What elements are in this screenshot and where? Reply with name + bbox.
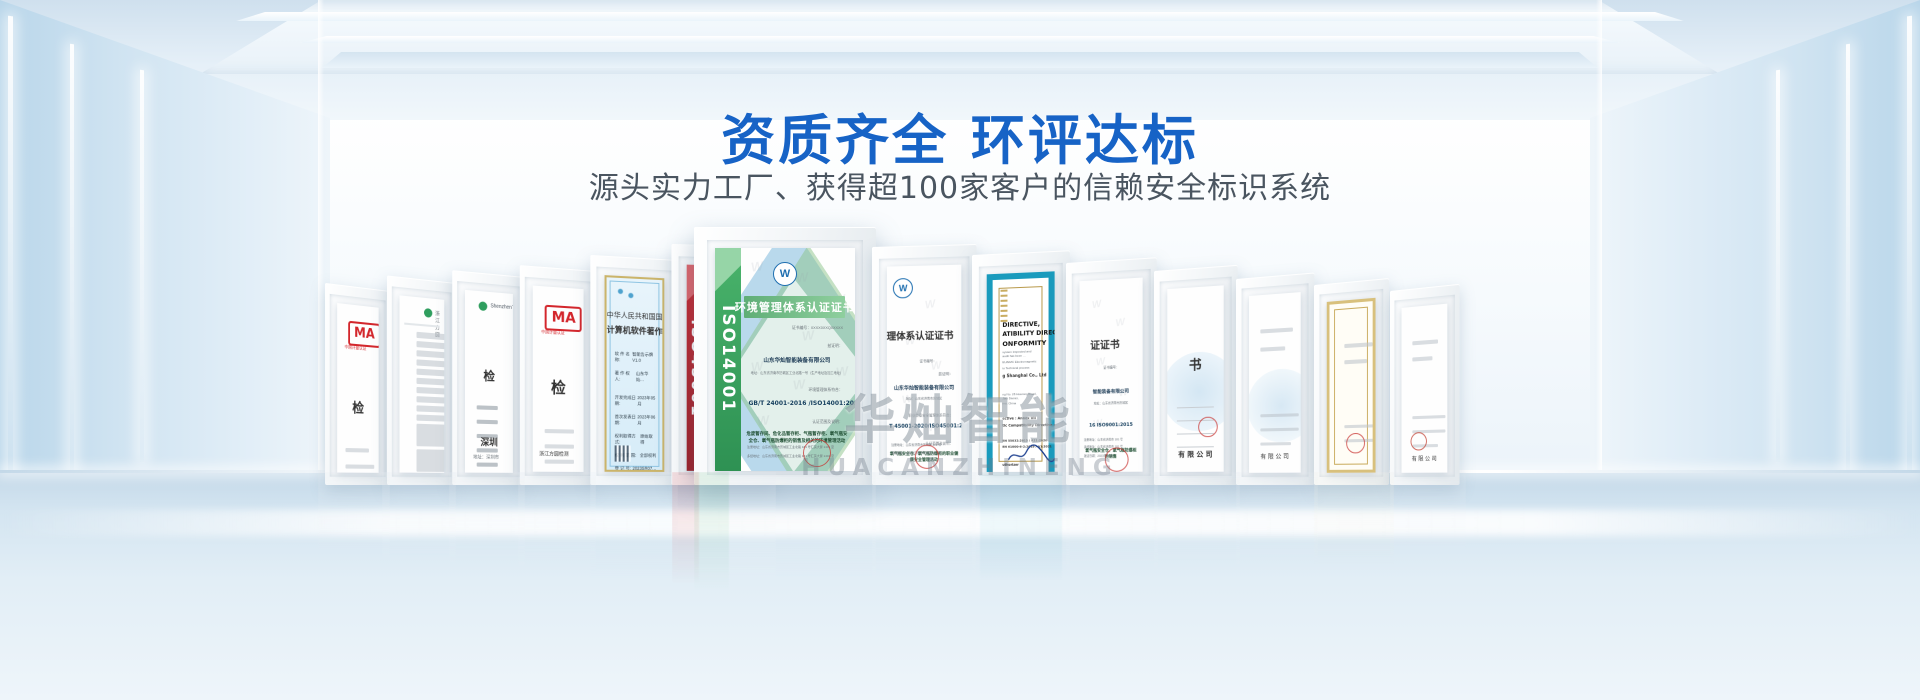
frame-inner: 有 限 公 司: [1241, 284, 1308, 477]
ma-mark-caption: 中国计量认证: [541, 329, 565, 336]
standard-value: 16 ISO9001:2015: [1082, 423, 1140, 429]
certificate-reflection: [1236, 472, 1318, 570]
standard-1: EN 55032:2015 / A11:2020: [1002, 438, 1047, 442]
ornament-corner: [613, 284, 639, 304]
field-block: [345, 464, 374, 468]
title-plate: 环境管理体系认证证书: [744, 296, 845, 318]
cnas-logo-icon: W: [773, 262, 797, 286]
certificate-title: 检: [533, 375, 583, 398]
certificate-reflection: [1066, 472, 1158, 578]
certificate-frame[interactable]: ShenzhenTEST 检 深圳 地址：深圳市: [452, 270, 525, 485]
certificate-frame[interactable]: 有 限 公 司: [1236, 272, 1314, 485]
directive-title-line1: DIRECTIVE,: [1002, 320, 1040, 328]
official-seal-icon: [803, 439, 831, 467]
company-name: 山东华灿智能装备有限公司: [891, 384, 957, 392]
certificate-sheet: 中华人民共和国国家版权局 计算机软件著作权登记证书 软 件 名 称:智能告示牌V…: [605, 275, 664, 472]
certificate-sheet: MA 中国计量认证 检: [337, 303, 378, 473]
certificate-reflection: [972, 472, 1070, 582]
company-name: 有 限 公 司: [1402, 454, 1447, 463]
certificate-sheet: 有 限 公 司: [1402, 303, 1447, 473]
ceiling-slot: [322, 52, 1598, 68]
ceiling-light-strip-1: [236, 12, 1684, 21]
standard-value: GB/T 24001-2016 /ISO14001:2015: [748, 400, 845, 407]
company-label: 兹证明：: [827, 344, 842, 349]
frame-inner: MA 中国计量认证 检: [330, 294, 386, 478]
issuer-address: 地址：深圳市: [473, 454, 499, 460]
certificate-number: 证书编号：0XXX0XXQ0XXXX: [792, 326, 843, 331]
directive-title-line2: ATIBILITY DIRECTIVE: [1002, 328, 1054, 337]
frame-inner: WW WW WW W 理体系认证证书 证书编号： 兹证明： 山东华灿智能装备有限…: [879, 256, 969, 475]
qr-code-icon: [615, 445, 631, 461]
certificate-frame[interactable]: [1314, 278, 1389, 485]
certificate-sheet: WW WW WW W 理体系认证证书 证书编号： 兹证明： 山东华灿智能装备有限…: [887, 265, 961, 472]
official-seal-icon: [1411, 432, 1427, 451]
field-block: [345, 448, 368, 453]
annex-1: ective : Annex VII: [1002, 416, 1036, 421]
signature-icon: [1006, 443, 1054, 464]
certificate-number: 证书编号：: [1103, 364, 1119, 370]
certificate-title: 理体系认证证书: [887, 327, 957, 342]
qualification-banner: 资质齐全 环评达标 源头实力工厂、获得超100家客户的信赖安全标识系统 MA 中…: [0, 0, 1920, 700]
certificate-sheet: WW WW W 证证书 证书编号： 智能装备有限公司 地址：山东省济南市历城区 …: [1080, 278, 1142, 472]
frame-inner: DIRECTIVE, ATIBILITY DIRECTIVE ONFORMITY…: [979, 262, 1063, 476]
certificate-sheet: MA 中国计量认证 检 浙江方圆检测: [533, 285, 583, 472]
ma-mark-caption: 中国计量认证: [345, 344, 367, 352]
standard-label: 职业健康安全管理体系符合：: [909, 412, 953, 417]
company-name: 有 限 公 司: [1169, 450, 1221, 461]
certificate-frame[interactable]: 浙江方圆: [387, 275, 456, 485]
company-name: 山东华灿智能装备有限公司: [748, 356, 845, 364]
field-table: [417, 332, 444, 473]
directive-body: EU/EMC Electromagnetic: [1002, 359, 1036, 364]
certificate-sheet: 书 有 限 公 司: [1167, 285, 1223, 472]
standard-value: T 45001-2020/ISO45001:2018: [889, 423, 959, 430]
certificate-reflection: [872, 472, 976, 586]
certificate-reflection: [318, 472, 390, 564]
certificate-frame[interactable]: WW WW W 证证书 证书编号： 智能装备有限公司 地址：山东省济南市历城区 …: [1066, 257, 1157, 485]
certificate-title: 书: [1167, 353, 1223, 375]
certificate-reflection: [382, 472, 456, 568]
frame-inner: 浙江方圆: [392, 286, 451, 476]
certificate-reflection: [449, 472, 525, 572]
certificate-rack: MA 中国计量认证 检 浙江方圆: [0, 225, 1920, 485]
certificate-frame[interactable]: DIRECTIVE, ATIBILITY DIRECTIVE ONFORMITY…: [972, 250, 1070, 485]
company-name: g Shanghai Co., Ltd: [1002, 372, 1046, 378]
company-address: 地址：山东省济南市历城区: [891, 396, 957, 401]
certificate-title: 检: [465, 366, 512, 386]
institute-name-en: ShenzhenTEST: [490, 304, 512, 313]
company-label: 兹证明：: [938, 372, 953, 377]
certificate-reflection: [1390, 472, 1466, 562]
frame-inner: WW WW W 证证书 证书编号： 智能装备有限公司 地址：山东省济南市历城区 …: [1072, 269, 1150, 476]
certificate-sheet: ISO14001 WW WW WW WW WW W 环境管理体系认证证书 证书编…: [715, 248, 856, 471]
gold-ornament: [1000, 289, 1007, 323]
company-name: 有 限 公 司: [1249, 451, 1301, 461]
company-address: 地址：山东省济南市历城区工业北路一号（生产地址及加工地址）: [748, 370, 845, 375]
certificate-sheet: DIRECTIVE, ATIBILITY DIRECTIVE ONFORMITY…: [987, 271, 1055, 472]
frame-inner: ShenzhenTEST 检 深圳 地址：深圳市: [457, 281, 520, 476]
certificate-sheet: 浙江方圆: [400, 295, 444, 472]
directive-title-line3: ONFORMITY: [1002, 338, 1046, 347]
official-seal-icon: [1198, 417, 1218, 438]
certificate-title: 证证书: [1080, 335, 1136, 353]
issuer-name: 浙江方圆检测: [539, 451, 568, 458]
institute-logo-icon: [479, 302, 488, 312]
certificate-frame[interactable]: 书 有 限 公 司: [1154, 265, 1238, 485]
ceiling-light-strip-2: [300, 36, 1620, 43]
directive-body: system inspected and audit has been …: [1002, 349, 1036, 359]
certificate-frame[interactable]: 中华人民共和国国家版权局 计算机软件著作权登记证书 软 件 名 称:智能告示牌V…: [590, 255, 678, 485]
scope-label: 认证范围及说明：: [812, 420, 842, 425]
copyright-title-line2: 计算机软件著作权登记证书: [607, 324, 662, 337]
company-address: ng No. 28 Huarong Road, Jiao District,re…: [1002, 391, 1036, 405]
certificate-title: 环境管理体系认证证书: [735, 299, 855, 315]
certificate-reflection: [590, 472, 678, 580]
frame-inner: 中华人民共和国国家版权局 计算机软件著作权登记证书 软 件 名 称:智能告示牌V…: [597, 267, 672, 476]
certificate-number: 证书编号：: [919, 358, 936, 363]
institute-logo-icon: [424, 308, 432, 318]
frame-inner: ISO14001 WW WW WW WW WW W 环境管理体系认证证书 证书编…: [707, 240, 864, 475]
ma-mark-icon: MA: [545, 304, 582, 331]
certificate-reflection: [1154, 472, 1240, 574]
frame-inner: MA 中国计量认证 检 浙江方圆检测: [525, 276, 591, 476]
annex-2: tic Compatibility Directive : Annex II: [1002, 422, 1054, 427]
inner-sheet: DIRECTIVE, ATIBILITY DIRECTIVE ONFORMITY…: [992, 277, 1048, 472]
standard-label: 环境管理体系符合：: [808, 388, 842, 393]
certificate-watermark: WW WW W: [1080, 278, 1142, 472]
directive-body: to Technical process: [1002, 365, 1029, 370]
issuer-name: 深圳: [465, 434, 512, 448]
frame-inner: [1319, 289, 1384, 477]
certificate-frame[interactable]: WW WW WW W 理体系认证证书 证书编号： 兹证明： 山东华灿智能装备有限…: [872, 244, 977, 485]
frame-inner: 书 有 限 公 司: [1160, 276, 1232, 476]
certificate-reflection: [1314, 472, 1394, 566]
certificate-reflection: [694, 472, 876, 592]
page-subtitle: 源头实力工厂、获得超100家客户的信赖安全标识系统: [0, 163, 1920, 207]
certificate-frame[interactable]: ISO14001 WW WW WW WW WW W 环境管理体系认证证书 证书编…: [694, 227, 876, 485]
decorative-arc: [1249, 368, 1301, 444]
certificate-frame[interactable]: 有 限 公 司: [1390, 284, 1460, 485]
certificate-sheet: [1326, 298, 1376, 473]
frame-inner: 有 限 公 司: [1395, 294, 1455, 477]
certificate-reflection: [518, 472, 596, 576]
certificate-frame[interactable]: MA 中国计量认证 检: [325, 283, 390, 485]
certificate-sheet: 有 限 公 司: [1249, 292, 1301, 472]
certificate-frame[interactable]: MA 中国计量认证 检 浙江方圆检测: [520, 265, 596, 485]
certificate-title: 检: [337, 396, 378, 417]
footnote-1: 注册地址：山东省济南市 181 号: [1084, 437, 1123, 442]
scope-value: 危废暂存间、危化品暂存柜、气瓶暂存柜、氧气瓶安全仓、氧气瓶防爆柜的销售及相关的环…: [746, 432, 849, 446]
certificate-sheet: ShenzhenTEST 检 深圳 地址：深圳市: [465, 290, 512, 472]
